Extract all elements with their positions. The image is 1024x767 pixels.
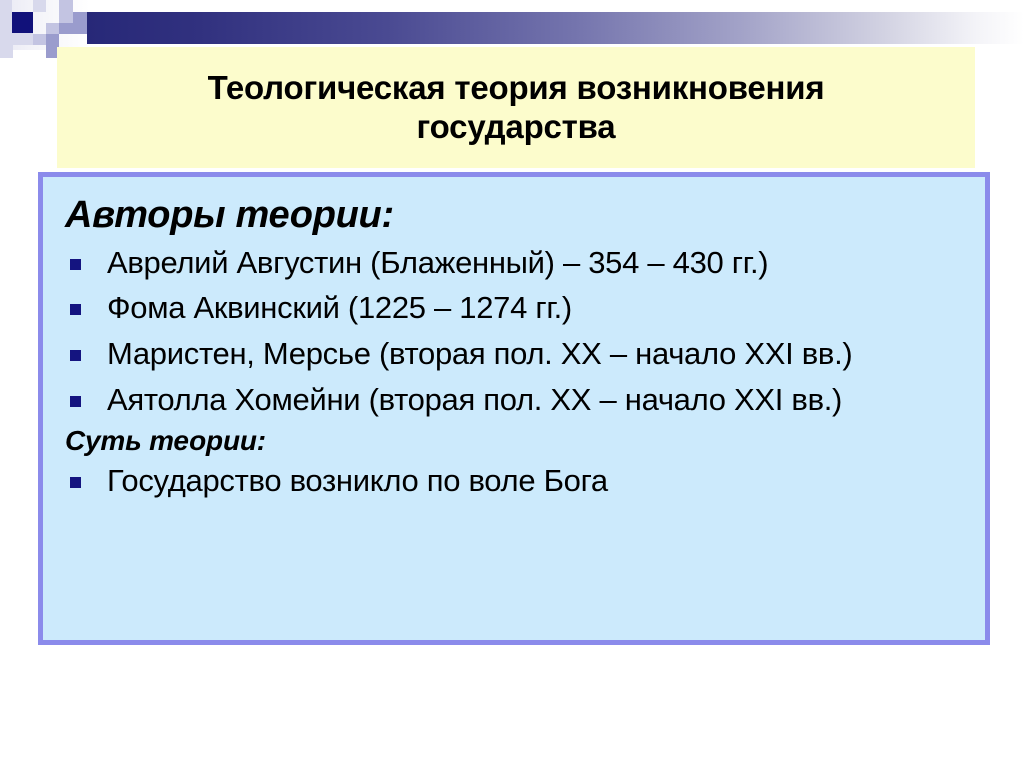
square-bullet-icon — [70, 259, 81, 270]
list-item: Аврелий Августин (Блаженный) – 354 – 430… — [65, 240, 985, 286]
decorative-square — [59, 0, 73, 12]
decorative-square — [46, 23, 59, 34]
list-item: Аятолла Хомейни (вторая пол. XX – начало… — [65, 377, 985, 423]
slide-content-box: Авторы теории:Аврелий Августин (Блаженны… — [38, 172, 990, 645]
list-item: Маристен, Мерсье (вторая пол. XX – начал… — [65, 331, 985, 377]
list-item: Государство возникло по воле Бога — [65, 458, 985, 504]
decorative-square — [33, 34, 46, 45]
decorative-square — [0, 0, 12, 33]
list-item-label: Фома Аквинский (1225 – 1274 гг.) — [107, 290, 572, 325]
square-bullet-icon — [70, 477, 81, 488]
header-gradient-bar — [87, 12, 1024, 44]
decorative-square — [59, 12, 73, 23]
section-heading: Авторы теории: — [65, 193, 985, 238]
square-bullet-icon — [70, 304, 81, 315]
decorative-square — [0, 33, 33, 45]
list-item-label: Маристен, Мерсье (вторая пол. XX – начал… — [107, 336, 852, 371]
square-bullet-icon — [70, 350, 81, 361]
page-title-line-1: Теологическая теория возникновения — [208, 69, 825, 106]
square-bullet-icon — [70, 396, 81, 407]
decorative-square — [0, 45, 13, 58]
page-title: Теологическая теория возникновения госуд… — [208, 69, 825, 146]
list-item-label: Аятолла Хомейни (вторая пол. XX – начало… — [107, 382, 842, 417]
content-sections: Авторы теории:Аврелий Августин (Блаженны… — [43, 193, 985, 503]
bullet-list: Государство возникло по воле Бога — [43, 458, 985, 504]
list-item-label: Государство возникло по воле Бога — [107, 463, 608, 498]
header-decoration — [0, 0, 1024, 50]
decorative-square — [12, 12, 33, 33]
list-item-label: Аврелий Августин (Блаженный) – 354 – 430… — [107, 245, 768, 280]
slide-title-box: Теологическая теория возникновения госуд… — [57, 47, 975, 168]
decorative-square — [59, 23, 73, 34]
section-heading: Суть теории: — [65, 424, 985, 458]
page-title-line-2: государства — [417, 108, 616, 145]
list-item: Фома Аквинский (1225 – 1274 гг.) — [65, 285, 985, 331]
decorative-square — [46, 34, 59, 45]
decorative-square — [73, 12, 87, 34]
decorative-square — [33, 0, 46, 12]
bullet-list: Аврелий Августин (Блаженный) – 354 – 430… — [43, 240, 985, 422]
